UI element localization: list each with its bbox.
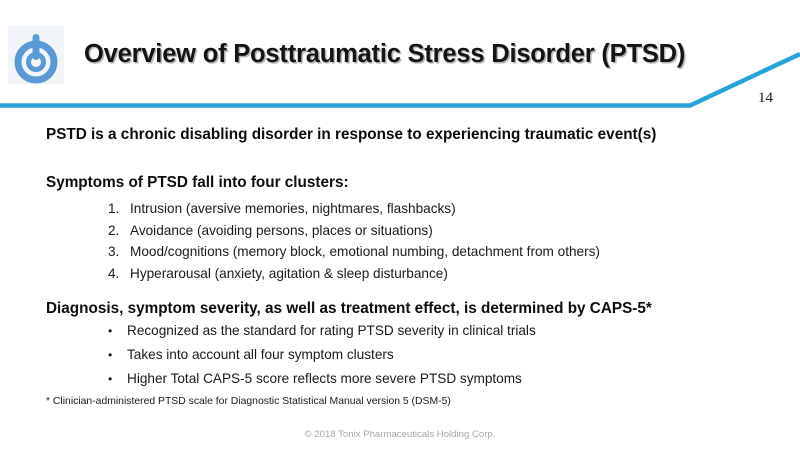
list-item-number: 1. [108,198,130,220]
diagnosis-heading: Diagnosis, symptom severity, as well as … [46,300,652,318]
list-item-label: Mood/cognitions (memory block, emotional… [130,241,600,263]
copyright-notice: © 2018 Tonix Pharmaceuticals Holding Cor… [0,429,800,440]
list-item: • Recognized as the standard for rating … [108,319,536,343]
footnote: * Clinician-administered PTSD scale for … [46,396,451,407]
list-item-number: 3. [108,241,130,263]
page-number: 14 [758,90,773,107]
symptoms-heading: Symptoms of PTSD fall into four clusters… [46,174,349,192]
lead-statement: PSTD is a chronic disabling disorder in … [46,126,656,144]
list-item-number: 4. [108,263,130,285]
header-accent-rule [0,40,800,112]
bullet-icon: • [108,367,127,391]
list-item-number: 2. [108,220,130,242]
list-item: 1. Intrusion (aversive memories, nightma… [108,198,600,220]
list-item-label: Higher Total CAPS-5 score reflects more … [127,367,522,391]
slide-canvas: Overview of Posttraumatic Stress Disorde… [0,0,800,449]
list-item: 2. Avoidance (avoiding persons, places o… [108,220,600,242]
list-item-label: Takes into account all four symptom clus… [127,343,394,367]
diagnosis-bullet-list: • Recognized as the standard for rating … [108,319,536,391]
list-item-label: Hyperarousal (anxiety, agitation & sleep… [130,263,448,285]
list-item-label: Recognized as the standard for rating PT… [127,319,536,343]
symptom-cluster-list: 1. Intrusion (aversive memories, nightma… [108,198,600,284]
list-item: • Higher Total CAPS-5 score reflects mor… [108,367,536,391]
bullet-icon: • [108,319,127,343]
bullet-icon: • [108,343,127,367]
list-item: • Takes into account all four symptom cl… [108,343,536,367]
list-item-label: Intrusion (aversive memories, nightmares… [130,198,456,220]
list-item-label: Avoidance (avoiding persons, places or s… [130,220,433,242]
list-item: 4. Hyperarousal (anxiety, agitation & sl… [108,263,600,285]
list-item: 3. Mood/cognitions (memory block, emotio… [108,241,600,263]
